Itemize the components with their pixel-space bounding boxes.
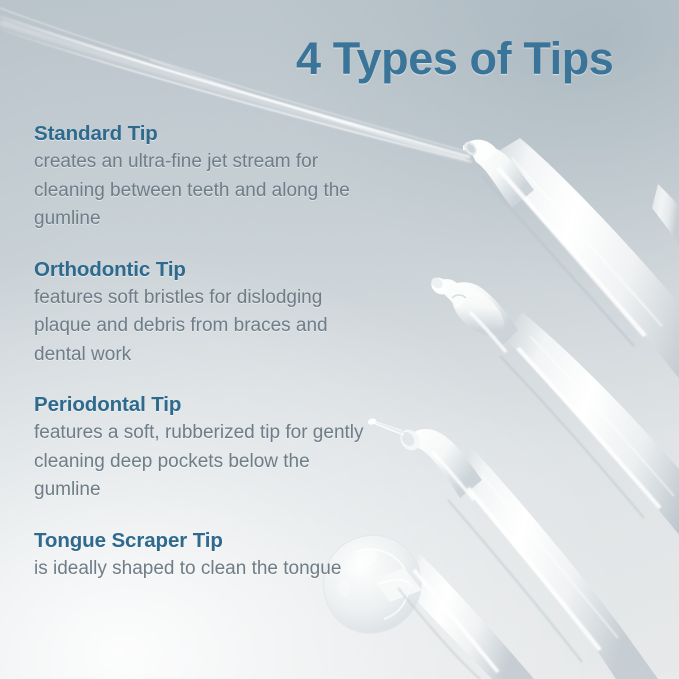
background-shaft-edges bbox=[652, 184, 679, 244]
tip-name-tongue-scraper: Tongue Scraper Tip bbox=[34, 529, 374, 553]
periodontal-tip-photo bbox=[367, 417, 658, 679]
tips-list: Standard Tip creates an ultra-fine jet s… bbox=[34, 122, 374, 583]
tip-description-standard: creates an ultra-fine jet stream for cle… bbox=[34, 148, 374, 234]
tip-item-orthodontic: Orthodontic Tip features soft bristles f… bbox=[34, 258, 374, 370]
tips-infographic: 4 Types of Tips Standard Tip creates an … bbox=[0, 0, 679, 679]
tip-name-standard: Standard Tip bbox=[34, 122, 374, 146]
tip-item-standard: Standard Tip creates an ultra-fine jet s… bbox=[34, 122, 374, 234]
page-title: 4 Types of Tips bbox=[296, 33, 666, 85]
orthodontic-tip-photo bbox=[428, 274, 679, 548]
tip-item-periodontal: Periodontal Tip features a soft, rubberi… bbox=[34, 393, 374, 505]
tip-item-tongue-scraper: Tongue Scraper Tip is ideally shaped to … bbox=[34, 529, 374, 584]
tip-description-periodontal: features a soft, rubberized tip for gent… bbox=[34, 419, 374, 505]
tip-name-orthodontic: Orthodontic Tip bbox=[34, 258, 374, 282]
tip-name-periodontal: Periodontal Tip bbox=[34, 393, 374, 417]
tip-description-tongue-scraper: is ideally shaped to clean the tongue bbox=[34, 555, 374, 584]
standard-tip-photo bbox=[462, 138, 679, 392]
tip-description-orthodontic: features soft bristles for dislodging pl… bbox=[34, 284, 374, 370]
